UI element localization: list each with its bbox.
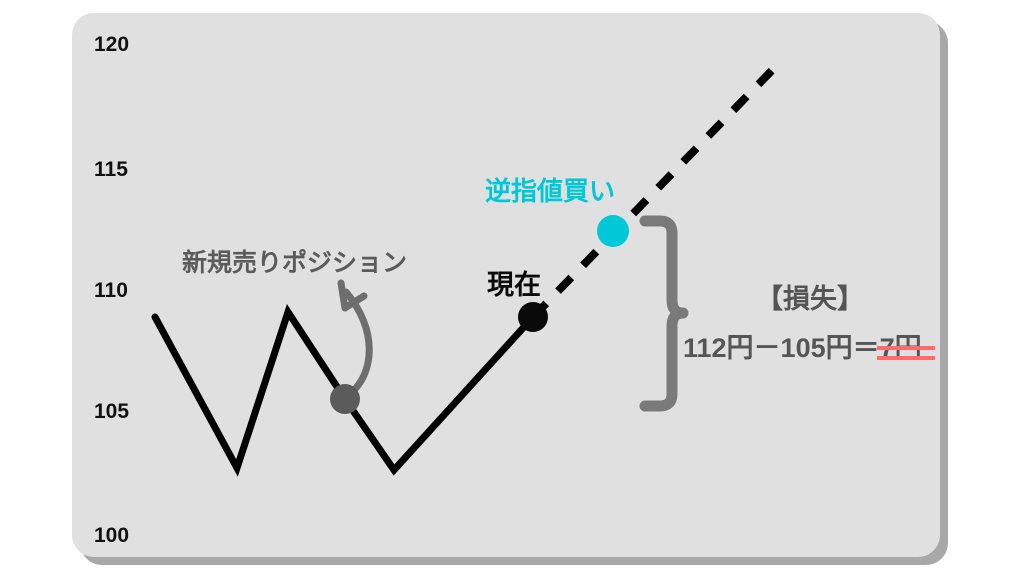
point-new-short-position bbox=[330, 384, 360, 414]
annotation-stop-buy-order: 逆指値買い bbox=[485, 176, 615, 206]
annotation-new-short-position: 新規売りポジション bbox=[182, 248, 407, 277]
y-axis-label-115: 115 bbox=[94, 158, 128, 181]
loss-formula-prefix: 112円－105円＝ bbox=[683, 333, 880, 363]
point-stop-buy-order bbox=[597, 215, 629, 247]
annotation-current-price: 現在 bbox=[487, 270, 541, 300]
y-axis-label-110: 110 bbox=[94, 279, 128, 302]
y-axis-label-105: 105 bbox=[94, 400, 129, 423]
point-current-price bbox=[518, 302, 548, 332]
price-chart-illustration: 120 115 110 105 100 新規売りポジション 現在 逆指値買い 【… bbox=[0, 0, 1024, 576]
y-axis-label-100: 100 bbox=[94, 524, 129, 547]
y-axis-label-120: 120 bbox=[94, 33, 129, 56]
loss-heading: 【損失】 bbox=[756, 284, 864, 314]
screenshot-root: 120 115 110 105 100 新規売りポジション 現在 逆指値買い 【… bbox=[0, 0, 1024, 576]
